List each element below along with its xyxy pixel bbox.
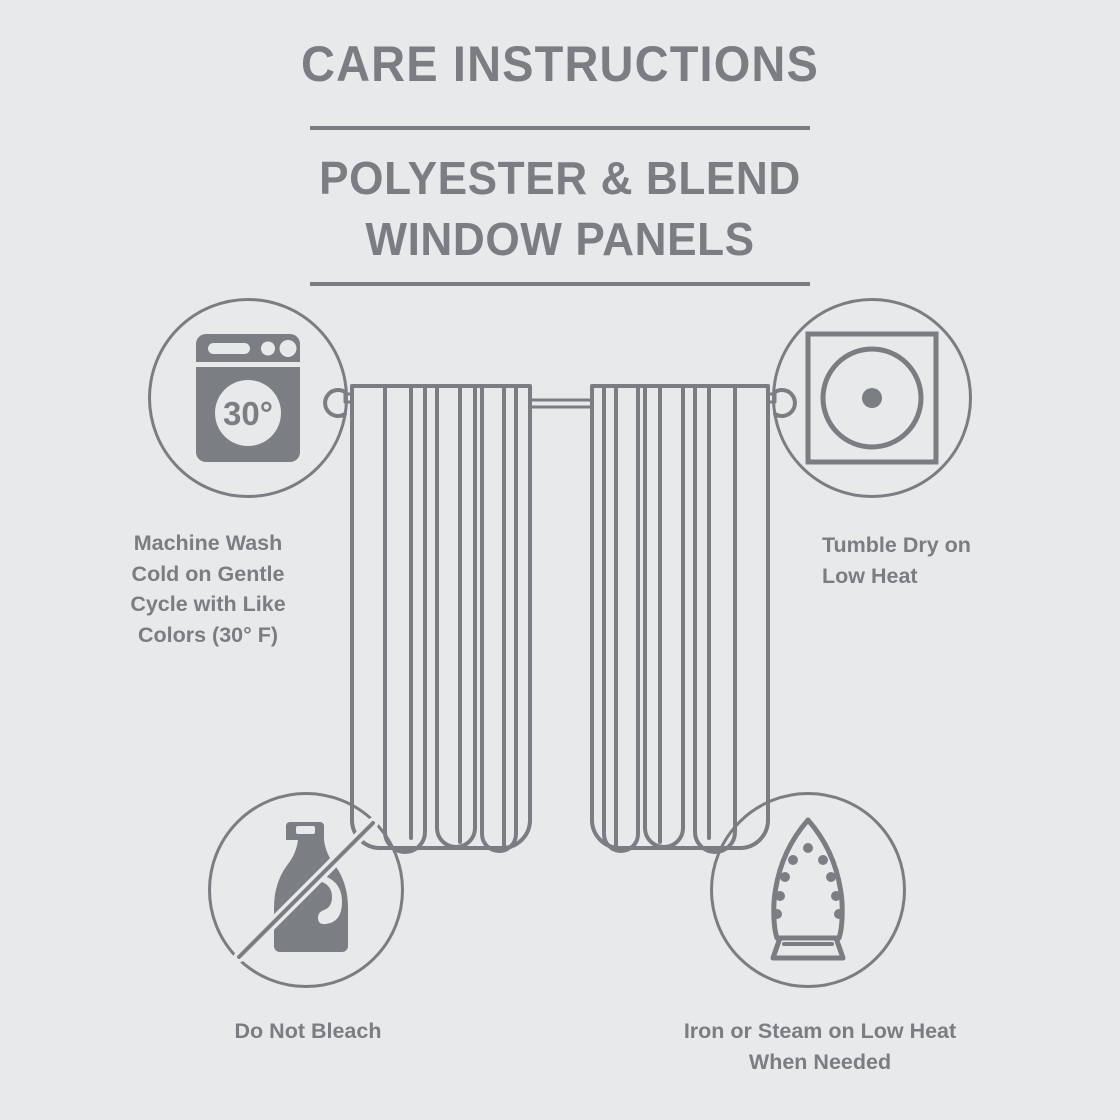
curtain-panel-right — [592, 386, 768, 852]
care-symbol-do-not-bleach — [208, 792, 404, 988]
washing-machine-icon: 30° — [148, 298, 348, 498]
caption-do-not-bleach: Do Not Bleach — [180, 1016, 436, 1047]
tumble-dry-icon — [772, 298, 972, 498]
caption-line: Machine Wash — [78, 528, 338, 559]
caption-line: Colors (30° F) — [78, 620, 338, 651]
caption-line: Low Heat — [822, 561, 1102, 592]
caption-line: Tumble Dry on — [822, 530, 1102, 561]
caption-line: Do Not Bleach — [180, 1016, 436, 1047]
caption-line: When Needed — [590, 1047, 1050, 1078]
care-instructions-infographic: CARE INSTRUCTIONS POLYESTER & BLEND WIND… — [0, 0, 1120, 1120]
caption-iron: Iron or Steam on Low Heat When Needed — [590, 1016, 1050, 1077]
caption-tumble-dry: Tumble Dry on Low Heat — [822, 530, 1102, 591]
steam-holes — [772, 843, 844, 919]
curtain-rod — [528, 400, 600, 407]
care-symbol-iron — [710, 792, 906, 988]
wash-temperature-label: 30° — [223, 395, 273, 432]
caption-machine-wash: Machine Wash Cold on Gentle Cycle with L… — [78, 528, 338, 650]
iron-icon — [710, 792, 906, 988]
care-symbol-tumble-dry — [772, 298, 972, 498]
caption-line: Cycle with Like — [78, 589, 338, 620]
caption-line: Iron or Steam on Low Heat — [590, 1016, 1050, 1047]
care-symbol-machine-wash: 30° — [148, 298, 348, 498]
caption-line: Cold on Gentle — [78, 559, 338, 590]
no-bleach-icon — [208, 792, 404, 988]
curtain-panel-left — [352, 386, 530, 852]
